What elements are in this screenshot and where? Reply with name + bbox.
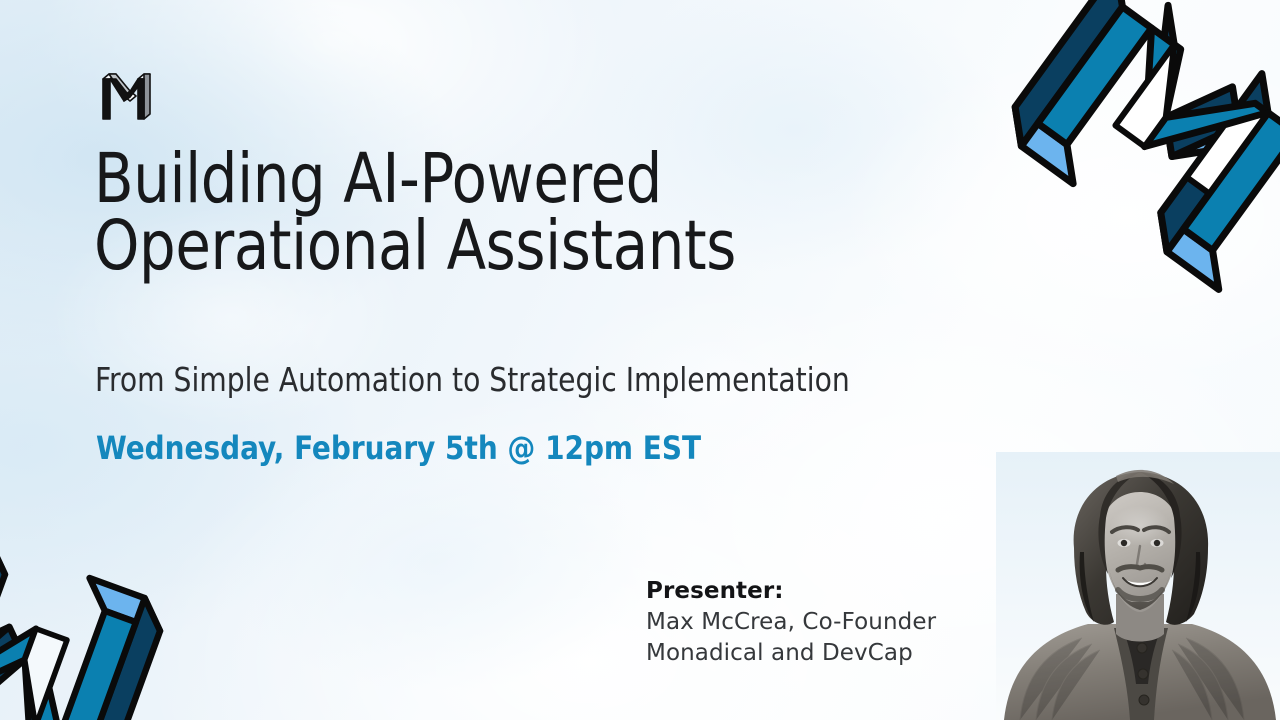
page-title: Building AI-Powered Operational Assistan…	[94, 146, 914, 280]
event-date-time: Wednesday, February 5th @ 12pm EST	[96, 429, 701, 467]
presenter-name-title: Max McCrea, Co-Founder	[646, 607, 1026, 638]
presenter-label: Presenter:	[646, 576, 1026, 607]
webinar-title-slide: Building AI-Powered Operational Assistan…	[0, 0, 1280, 720]
page-title-line-2: Operational Assistants	[94, 213, 857, 280]
presenter-headshot-grayscale	[996, 452, 1280, 720]
presenter-block: Presenter: Max McCrea, Co-Founder Monadi…	[646, 576, 1026, 668]
page-title-line-1: Building AI-Powered	[94, 146, 857, 213]
deco-m-top-right	[975, 0, 1280, 302]
deco-m-bottom-left	[0, 488, 198, 720]
presenter-organizations: Monadical and DevCap	[646, 638, 1026, 669]
page-subtitle: From Simple Automation to Strategic Impl…	[95, 360, 850, 399]
monadical-m-logo-icon	[96, 70, 152, 126]
